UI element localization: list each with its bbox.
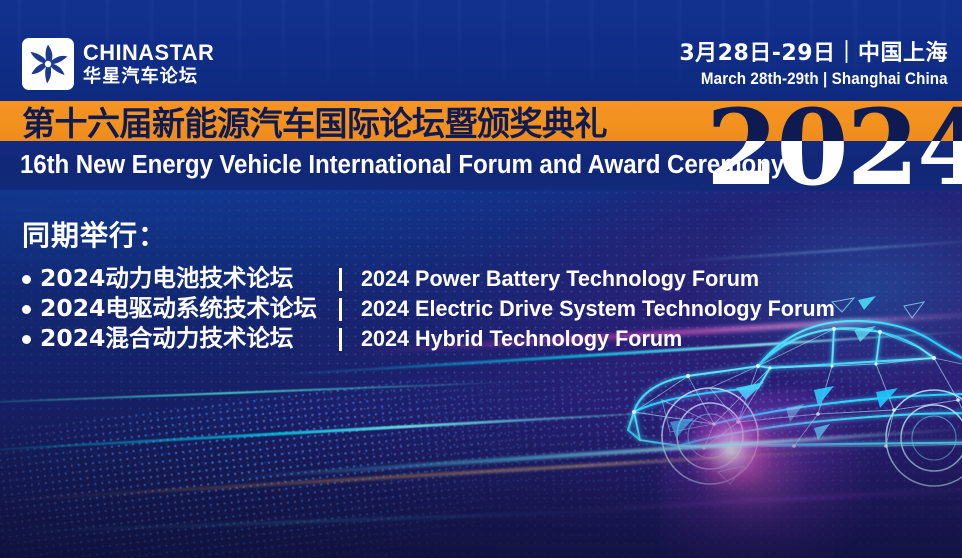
event-date-location: 3月28日-29日｜中国上海 March 28th-29th | Shangha… [679, 42, 948, 88]
bullet-dot-icon [22, 305, 31, 314]
forum-title-cn: 2024电驱动系统技术论坛 [40, 297, 317, 321]
forum-separator [339, 298, 342, 321]
headlight-flare [688, 412, 774, 490]
chinastar-logo[interactable]: CHINASTAR 华星汽车论坛 [22, 38, 218, 90]
date-location-cn: 3月28日-29日｜中国上海 [679, 42, 948, 66]
forum-separator [339, 268, 342, 291]
forum-title-cn: 2024混合动力技术论坛 [40, 327, 293, 351]
page-title-en: 16th New Energy Vehicle International Fo… [20, 141, 784, 190]
chinastar-emblem-icon [22, 38, 74, 90]
date-location-en: March 28th-29th | Shanghai China [701, 70, 948, 88]
page-title-cn: 第十六届新能源汽车国际论坛暨颁奖典礼 [22, 101, 607, 141]
forum-separator [339, 328, 342, 351]
list-item[interactable]: 2024动力电池技术论坛 2024 Power Battery Technolo… [22, 264, 822, 294]
bullet-dot-icon [22, 275, 31, 284]
forum-title-en: 2024 Power Battery Technology Forum [361, 268, 759, 291]
forum-title-en: 2024 Electric Drive System Technology Fo… [361, 298, 835, 321]
bullet-dot-icon [22, 335, 31, 344]
event-banner: CHINASTAR 华星汽车论坛 3月28日-29日｜中国上海 March 28… [0, 0, 962, 558]
list-item[interactable]: 2024混合动力技术论坛 2024 Hybrid Technology Foru… [22, 324, 822, 354]
forum-title-en: 2024 Hybrid Technology Forum [361, 328, 682, 351]
concurrent-events-section: 同期举行： 2024动力电池技术论坛 2024 Power Battery Te… [22, 222, 822, 354]
logo-text-block: CHINASTAR 华星汽车论坛 [83, 42, 218, 87]
list-item[interactable]: 2024电驱动系统技术论坛 2024 Electric Drive System… [22, 294, 822, 324]
concurrent-heading: 同期举行： [22, 222, 822, 250]
logo-name-cn: 华星汽车论坛 [83, 68, 218, 86]
logo-name-en: CHINASTAR [83, 42, 214, 65]
forum-title-cn: 2024动力电池技术论坛 [40, 267, 293, 291]
